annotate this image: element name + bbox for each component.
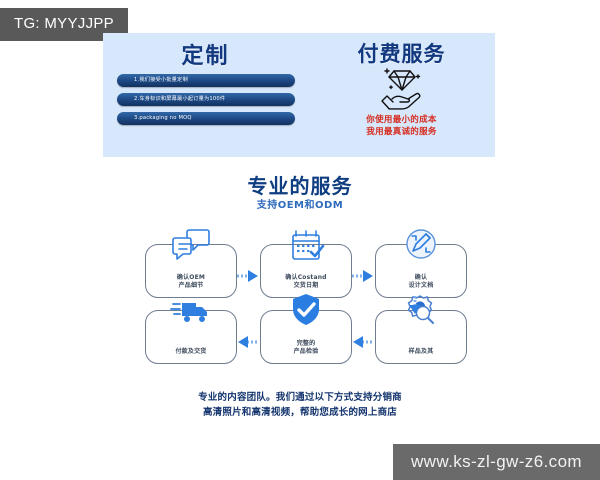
footer-note: 专业的内容团队。我们通过以下方式支持分销商 高清照片和高清视频，帮助您成长的网上…	[0, 390, 600, 420]
flow-step-2-line2: 交货日期	[261, 282, 351, 290]
service-section-title: 专业的服务	[0, 170, 600, 199]
flow-step-6[interactable]: 样品及其	[375, 310, 467, 364]
flow-step-1-label: 确认OEM 产品细节	[146, 274, 236, 290]
customization-block: 定制 1.我们接受小批量定制 2.车身标识和屏幕最小起订量为100件 3.pac…	[103, 33, 308, 157]
customization-bullet-3-text: 3.packaging no MOQ	[117, 112, 295, 125]
flow-step-5[interactable]: 完整的 产品检验	[260, 310, 352, 364]
service-section-subtitle: 支持OEM和ODM	[0, 196, 600, 211]
flow-step-1-line1: 确认OEM	[146, 274, 236, 282]
flow-step-5-line2: 产品检验	[261, 348, 351, 356]
paid-service-tagline: 你使用最小的成本 我用最真诚的服务	[308, 115, 495, 138]
customization-title: 定制	[103, 38, 308, 70]
flow-connector-left-1	[350, 334, 376, 350]
design-pencil-icon	[399, 225, 443, 265]
flow-connector-right-2	[350, 268, 376, 284]
flow-step-6-label: 样品及其	[376, 348, 466, 356]
service-flow-diagram: 确认OEM 产品细节	[145, 222, 465, 362]
telegram-watermark-text: TG: MYYJJPP	[14, 15, 114, 32]
flow-step-3[interactable]: 确认 设计文档	[375, 244, 467, 298]
flow-step-5-label: 完整的 产品检验	[261, 340, 351, 356]
chat-bubbles-icon	[169, 225, 213, 265]
shield-check-icon	[284, 291, 328, 331]
delivery-truck-icon	[169, 291, 213, 331]
flow-step-4[interactable]: 付款及交货	[145, 310, 237, 364]
flow-connector-right-1	[235, 268, 261, 284]
customization-bullet-2: 2.车身标识和屏幕最小起订量为100件	[117, 93, 295, 106]
top-banner-panel: 定制 1.我们接受小批量定制 2.车身标识和屏幕最小起订量为100件 3.pac…	[103, 33, 495, 157]
calendar-check-icon	[284, 225, 328, 265]
flow-step-6-line1: 样品及其	[376, 348, 466, 356]
flow-step-5-line1: 完整的	[261, 340, 351, 348]
paid-service-block: 付费服务	[308, 33, 495, 157]
customization-bullet-1-text: 1.我们接受小批量定制	[117, 74, 295, 87]
customization-bullet-3: 3.packaging no MOQ	[117, 112, 295, 125]
paid-service-tagline-line2: 我用最真诚的服务	[308, 127, 495, 139]
flow-step-2-label: 确认Costand 交货日期	[261, 274, 351, 290]
paid-service-tagline-line1: 你使用最小的成本	[308, 115, 495, 127]
customization-bullet-2-text: 2.车身标识和屏幕最小起订量为100件	[117, 93, 295, 106]
site-watermark-bar: www.ks-zl-gw-z6.com	[393, 444, 600, 480]
flow-connector-down	[407, 294, 423, 316]
flow-step-2[interactable]: 确认Costand 交货日期	[260, 244, 352, 298]
flow-step-3-label: 确认 设计文档	[376, 274, 466, 290]
footer-note-line1: 专业的内容团队。我们通过以下方式支持分销商	[0, 390, 600, 405]
customization-bullet-1: 1.我们接受小批量定制	[117, 74, 295, 87]
flow-step-3-line1: 确认	[376, 274, 466, 282]
paid-service-title: 付费服务	[308, 38, 495, 68]
slide-canvas: TG: MYYJJPP 定制 1.我们接受小批量定制 2.车身标识和屏幕最小起订…	[0, 0, 600, 480]
flow-step-4-label: 付款及交货	[146, 348, 236, 356]
flow-step-3-line2: 设计文档	[376, 282, 466, 290]
footer-note-line2: 高清照片和高清视频，帮助您成长的网上商店	[0, 405, 600, 420]
flow-step-2-line1: 确认Costand	[261, 274, 351, 282]
flow-step-1[interactable]: 确认OEM 产品细节	[145, 244, 237, 298]
flow-step-1-line2: 产品细节	[146, 282, 236, 290]
diamond-in-hand-icon	[372, 66, 432, 112]
flow-step-4-line1: 付款及交货	[146, 348, 236, 356]
site-watermark-text: www.ks-zl-gw-z6.com	[393, 444, 600, 480]
flow-connector-left-2	[235, 334, 261, 350]
